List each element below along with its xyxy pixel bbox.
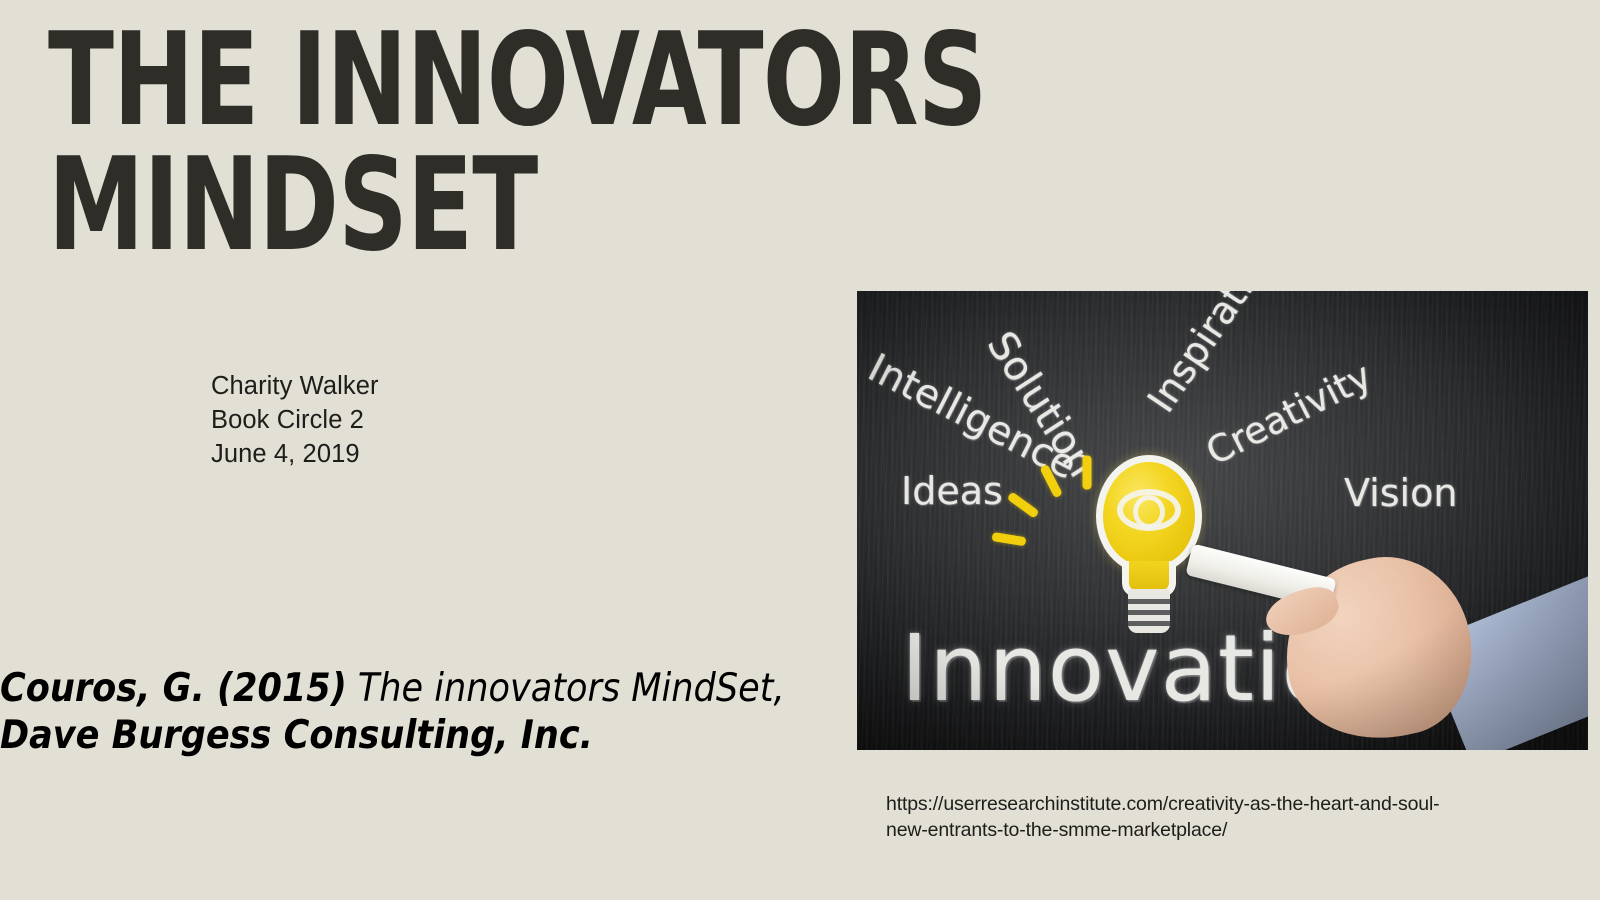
url-line-2: new-entrants-to-the-smme-marketplace/ bbox=[886, 817, 1600, 843]
subtitle-block: Charity Walker Book Circle 2 June 4, 201… bbox=[211, 369, 631, 471]
chalk-word-vision: Vision bbox=[1344, 471, 1457, 515]
title-line-1: The Innovators bbox=[48, 18, 720, 143]
page-title: The Innovators Mindset bbox=[48, 18, 848, 269]
chalkboard-innovation-image: Intelligence Solution Inspiration Creati… bbox=[857, 291, 1588, 750]
bulb-ray bbox=[1083, 456, 1092, 490]
group-name: Book Circle 2 bbox=[211, 403, 631, 437]
citation-work-title: The innovators MindSet, bbox=[347, 666, 785, 711]
citation-publisher: Dave Burgess Consulting, Inc. bbox=[0, 713, 593, 758]
citation-author-year: Couros, G. (2015) bbox=[0, 666, 347, 711]
bulb-base-ridge bbox=[1128, 621, 1170, 626]
chalk-word-ideas: Ideas bbox=[901, 469, 1003, 513]
book-citation: Couros, G. (2015) The innovators MindSet… bbox=[0, 665, 840, 759]
bulb-base-ridge bbox=[1128, 599, 1170, 604]
author-name: Charity Walker bbox=[211, 369, 631, 403]
image-source-url[interactable]: https://userresearchinstitute.com/creati… bbox=[886, 791, 1600, 843]
url-line-1: https://userresearchinstitute.com/creati… bbox=[886, 791, 1600, 817]
bulb-filament-inner bbox=[1133, 495, 1165, 529]
presentation-date: June 4, 2019 bbox=[211, 437, 631, 471]
bulb-base-ridge bbox=[1128, 610, 1170, 615]
presentation-slide: The Innovators Mindset Charity Walker Bo… bbox=[0, 0, 1600, 900]
title-line-2: Mindset bbox=[48, 143, 720, 268]
